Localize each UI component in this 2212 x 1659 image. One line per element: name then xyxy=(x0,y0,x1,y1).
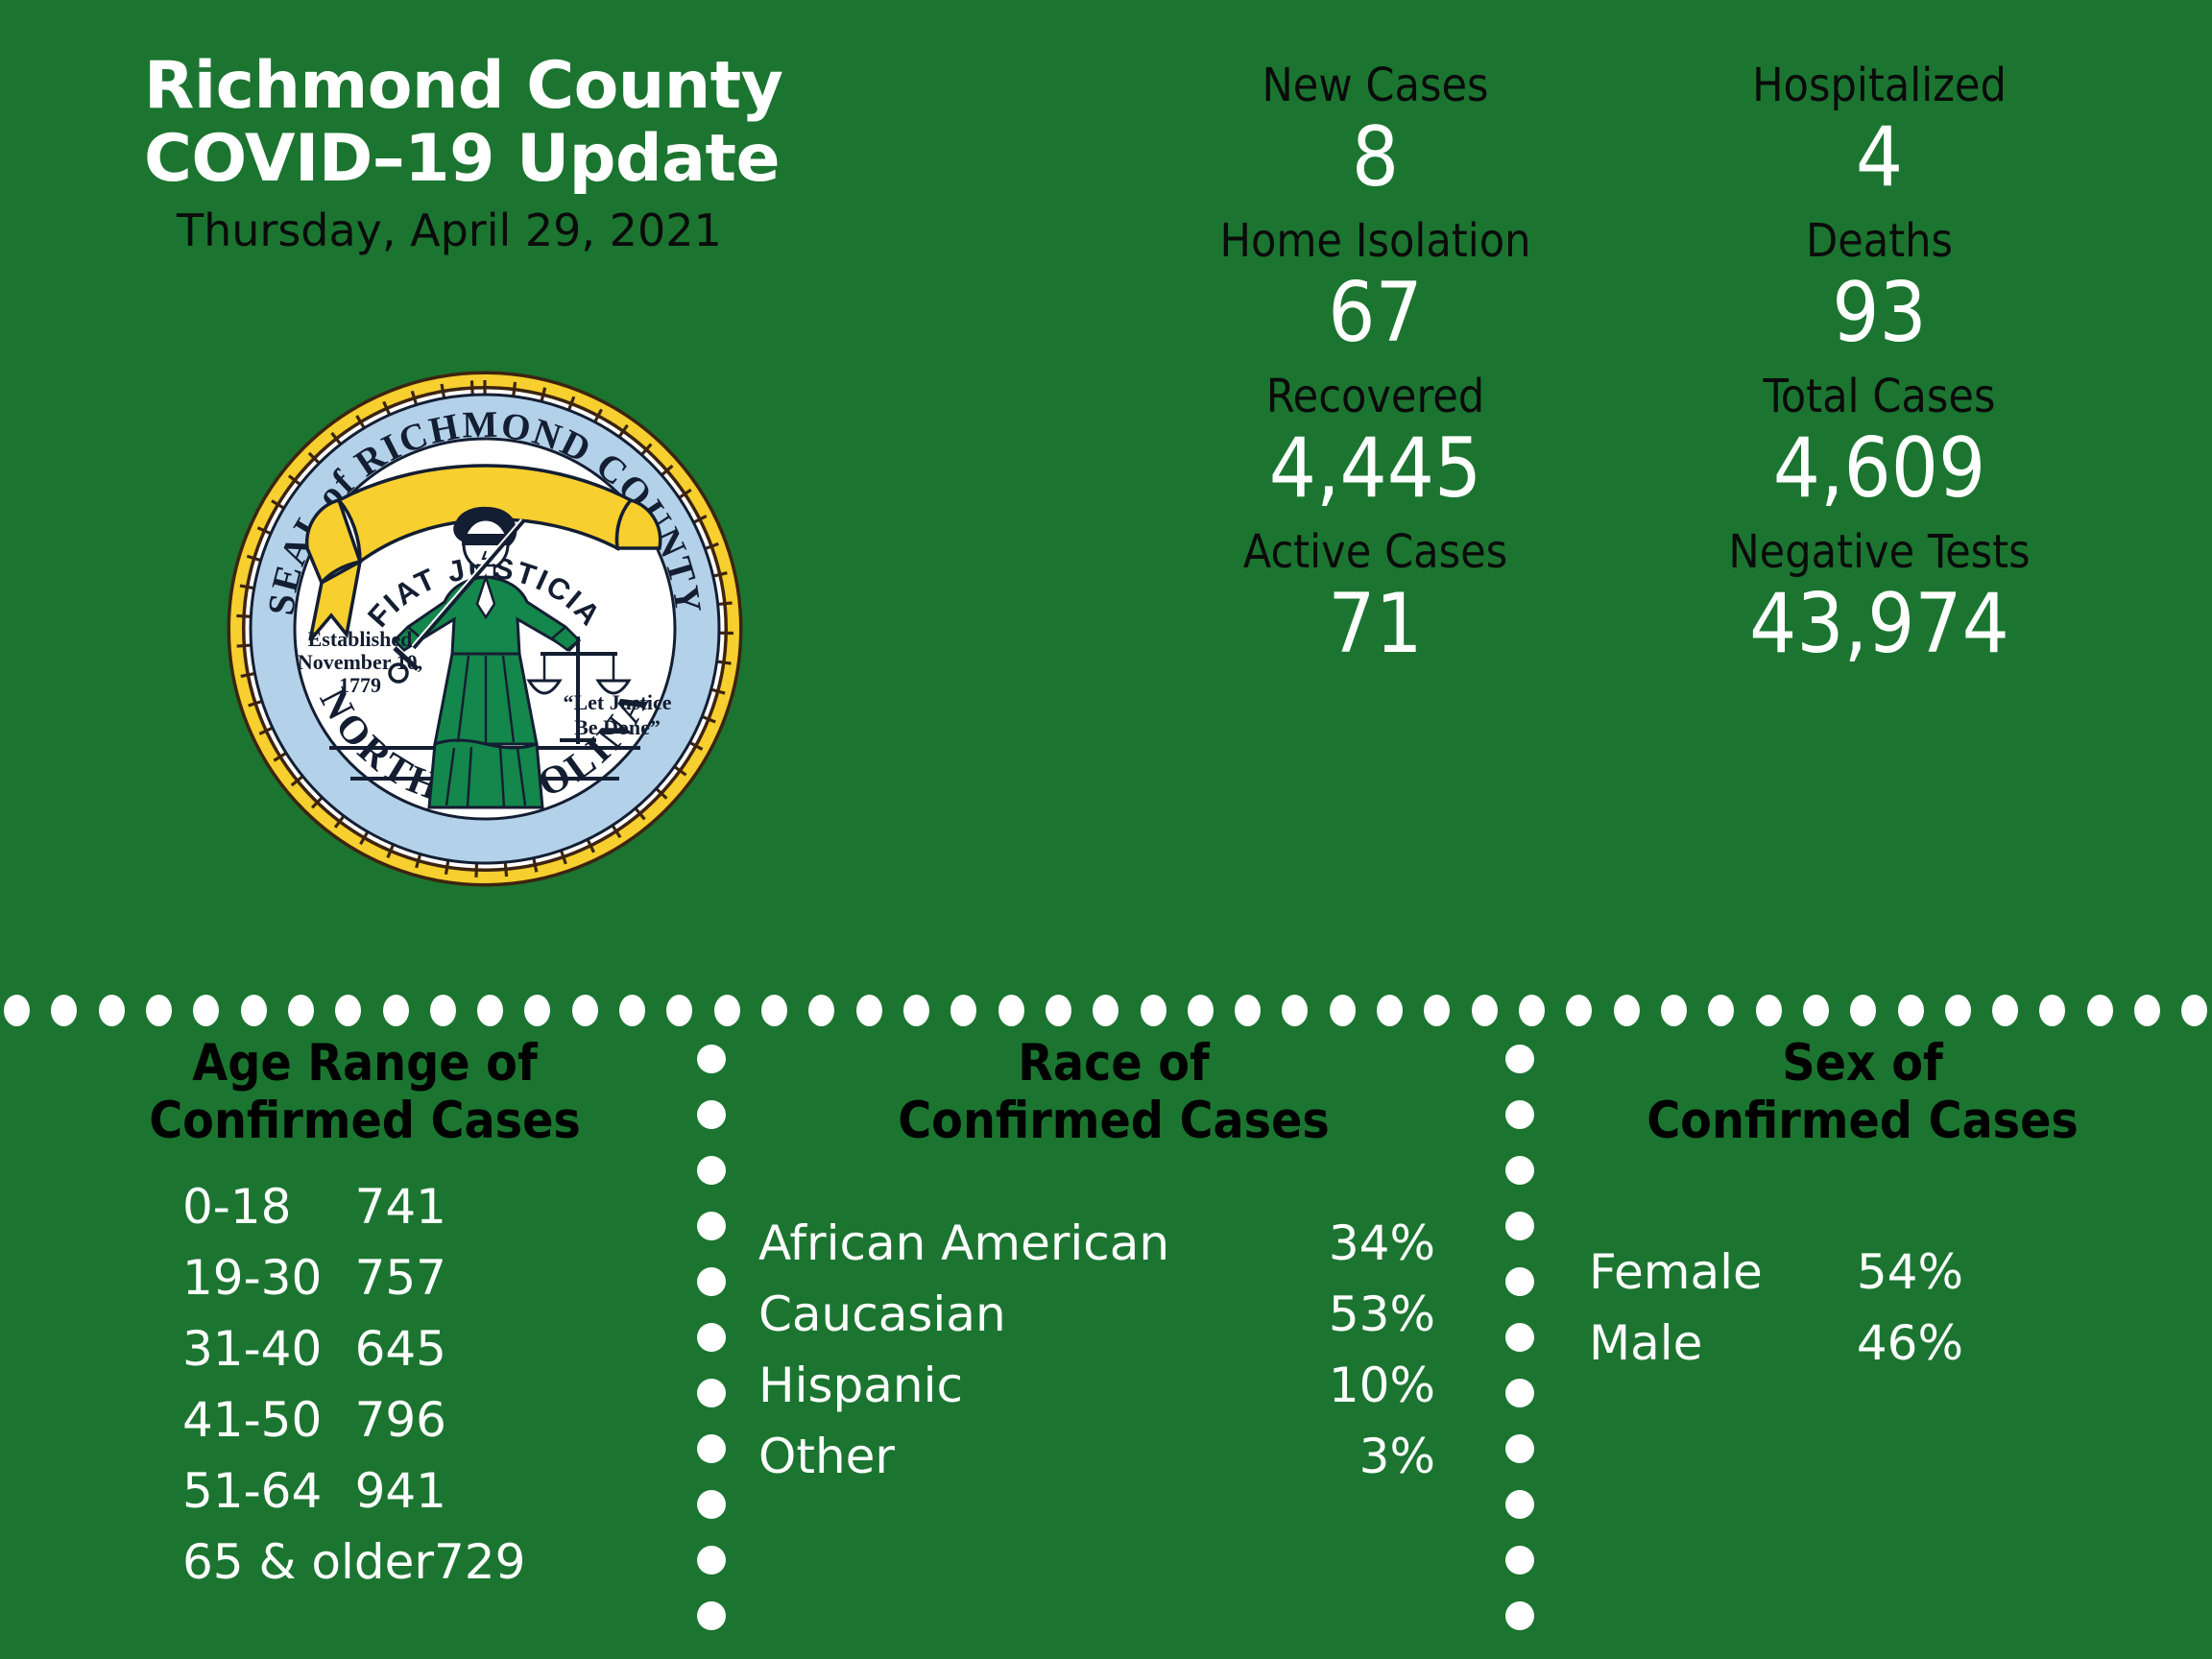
page-title-line-2: COVID–19 Update xyxy=(144,123,893,196)
row-label: 19-30 xyxy=(182,1242,322,1313)
panel-title-line-1: Age Range of xyxy=(58,1035,672,1093)
divider-dot xyxy=(714,995,740,1026)
race-rows: African American 34% Caucasian 53% Hispa… xyxy=(758,1208,1435,1492)
sex-rows: Female 54% Male 46% xyxy=(1589,1237,1963,1379)
divider-dot xyxy=(998,995,1024,1026)
divider-dot xyxy=(1756,995,1782,1026)
divider-dot xyxy=(697,1434,726,1463)
divider-dot xyxy=(477,995,503,1026)
svg-text:Established: Established xyxy=(308,627,413,651)
row-label: 31-40 xyxy=(182,1313,322,1384)
divider-dot xyxy=(1850,995,1876,1026)
divider-dot xyxy=(1472,995,1498,1026)
horizontal-dotted-divider xyxy=(0,993,2212,1027)
stat-value: 8 xyxy=(1142,113,1608,202)
list-item: Other 3% xyxy=(758,1421,1435,1492)
stat-value: 71 xyxy=(1142,580,1608,668)
panel-title-line-2: Confirmed Cases xyxy=(58,1093,672,1150)
row-value: 741 xyxy=(355,1171,446,1242)
divider-dot xyxy=(697,1045,726,1073)
stat-recovered: Recovered 4,445 xyxy=(1142,369,1608,524)
stat-value: 4,609 xyxy=(1647,424,2112,513)
divider-dot xyxy=(1505,1490,1534,1519)
stat-hospitalized: Hospitalized 4 xyxy=(1647,58,2112,213)
row-label: Hispanic xyxy=(758,1350,963,1421)
divider-dot xyxy=(99,995,125,1026)
stat-label: Active Cases xyxy=(1142,524,1608,580)
divider-dot xyxy=(1945,995,1971,1026)
panel-age-range: Age Range of Confirmed Cases 0-18 741 19… xyxy=(58,1035,672,1598)
stat-active-cases: Active Cases 71 xyxy=(1142,524,1608,680)
row-value: 796 xyxy=(355,1384,446,1455)
divider-dot xyxy=(1046,995,1071,1026)
divider-dot xyxy=(572,995,598,1026)
county-seal-icon: SEAL of RICHMOND COUNTY NORTH CAROLINA F… xyxy=(216,360,754,898)
divider-dot xyxy=(1505,1100,1534,1129)
row-value: 645 xyxy=(355,1313,446,1384)
divider-dot xyxy=(1505,1156,1534,1185)
list-item: African American 34% xyxy=(758,1208,1435,1279)
row-label: African American xyxy=(758,1208,1169,1279)
row-label: 51-64 xyxy=(182,1455,322,1527)
row-value: 53% xyxy=(1329,1279,1435,1350)
report-date: Thursday, April 29, 2021 xyxy=(177,202,893,259)
divider-dot xyxy=(288,995,314,1026)
divider-dot xyxy=(1661,995,1687,1026)
divider-dot xyxy=(1505,1045,1534,1073)
divider-dot xyxy=(430,995,456,1026)
list-item: Female 54% xyxy=(1589,1237,1963,1308)
stat-new-cases: New Cases 8 xyxy=(1142,58,1608,213)
stat-label: Hospitalized xyxy=(1647,58,2112,113)
list-item: 65 & older 729 xyxy=(182,1527,446,1598)
divider-dot xyxy=(1898,995,1924,1026)
divider-dot xyxy=(1505,1434,1534,1463)
row-value: 34% xyxy=(1329,1208,1435,1279)
svg-text:1779: 1779 xyxy=(339,673,381,697)
panel-title-line-2: Confirmed Cases xyxy=(758,1093,1469,1150)
svg-text:November 10,: November 10, xyxy=(298,650,422,674)
divider-dot xyxy=(1424,995,1450,1026)
divider-dot xyxy=(1282,995,1308,1026)
divider-dot xyxy=(2087,995,2113,1026)
divider-dot xyxy=(856,995,882,1026)
divider-dot xyxy=(335,995,361,1026)
stat-label: Total Cases xyxy=(1647,369,2112,424)
row-label: Male xyxy=(1589,1308,1702,1379)
stat-label: Home Isolation xyxy=(1142,213,1608,269)
divider-dot xyxy=(903,995,929,1026)
vertical-dotted-divider-left xyxy=(695,1045,728,1659)
row-label: 41-50 xyxy=(182,1384,322,1455)
panel-title-line-1: Sex of xyxy=(1555,1035,2170,1093)
divider-dot xyxy=(2181,995,2207,1026)
divider-dot xyxy=(1614,995,1640,1026)
divider-dot xyxy=(524,995,550,1026)
row-label: Female xyxy=(1589,1237,1763,1308)
list-item: 19-30 757 xyxy=(182,1242,446,1313)
divider-dot xyxy=(697,1546,726,1575)
county-seal: SEAL of RICHMOND COUNTY NORTH CAROLINA F… xyxy=(216,360,754,898)
panel-title-line-1: Race of xyxy=(758,1035,1469,1093)
divider-dot xyxy=(2039,995,2065,1026)
divider-dot xyxy=(808,995,834,1026)
divider-dot xyxy=(4,995,30,1026)
list-item: Caucasian 53% xyxy=(758,1279,1435,1350)
divider-dot xyxy=(1505,1267,1534,1296)
divider-dot xyxy=(1188,995,1214,1026)
row-label: Other xyxy=(758,1421,895,1492)
stat-value: 67 xyxy=(1142,269,1608,357)
row-value: 941 xyxy=(355,1455,446,1527)
divider-dot xyxy=(761,995,787,1026)
stat-label: New Cases xyxy=(1142,58,1608,113)
row-value: 757 xyxy=(355,1242,446,1313)
svg-text:Be Done”: Be Done” xyxy=(574,715,661,739)
divider-dot xyxy=(1505,1546,1534,1575)
divider-dot xyxy=(1141,995,1166,1026)
list-item: 41-50 796 xyxy=(182,1384,446,1455)
row-label: 0-18 xyxy=(182,1171,291,1242)
divider-dot xyxy=(1093,995,1118,1026)
divider-dot xyxy=(1505,1212,1534,1240)
row-label: 65 & older xyxy=(182,1527,434,1598)
page-title-line-1: Richmond County xyxy=(144,50,893,123)
divider-dot xyxy=(146,995,172,1026)
divider-dot xyxy=(1566,995,1592,1026)
list-item: 51-64 941 xyxy=(182,1455,446,1527)
divider-dot xyxy=(1992,995,2018,1026)
row-value: 729 xyxy=(434,1527,525,1598)
divider-dot xyxy=(697,1323,726,1352)
svg-text:“Let Justice: “Let Justice xyxy=(563,690,671,714)
divider-dot xyxy=(666,995,692,1026)
stat-home-isolation: Home Isolation 67 xyxy=(1142,213,1608,369)
divider-dot xyxy=(1803,995,1829,1026)
seal-motto-english: “Let Justice Be Done” xyxy=(563,690,671,739)
divider-dot xyxy=(697,1601,726,1630)
divider-dot xyxy=(697,1156,726,1185)
row-value: 54% xyxy=(1857,1237,1963,1308)
panel-title-line-2: Confirmed Cases xyxy=(1555,1093,2170,1150)
stat-value: 93 xyxy=(1647,269,2112,357)
infographic-page: Richmond County COVID–19 Update Thursday… xyxy=(0,0,2212,1659)
stat-label: Negative Tests xyxy=(1647,524,2112,580)
list-item: Male 46% xyxy=(1589,1308,1963,1379)
stat-value: 43,974 xyxy=(1647,580,2112,668)
stat-negative-tests: Negative Tests 43,974 xyxy=(1647,524,2112,680)
divider-dot xyxy=(697,1379,726,1407)
stat-value: 4,445 xyxy=(1142,424,1608,513)
stat-total-cases: Total Cases 4,609 xyxy=(1647,369,2112,524)
stat-label: Recovered xyxy=(1142,369,1608,424)
row-label: Caucasian xyxy=(758,1279,1006,1350)
divider-dot xyxy=(1505,1601,1534,1630)
divider-dot xyxy=(1519,995,1545,1026)
stat-label: Deaths xyxy=(1647,213,2112,269)
divider-dot xyxy=(1235,995,1261,1026)
divider-dot xyxy=(51,995,77,1026)
divider-dot xyxy=(1330,995,1356,1026)
list-item: Hispanic 10% xyxy=(758,1350,1435,1421)
divider-dot xyxy=(1377,995,1403,1026)
header-block: Richmond County COVID–19 Update Thursday… xyxy=(144,50,893,259)
divider-dot xyxy=(1505,1379,1534,1407)
list-item: 0-18 741 xyxy=(182,1171,446,1242)
divider-dot xyxy=(697,1267,726,1296)
divider-dot xyxy=(950,995,976,1026)
panel-race: Race of Confirmed Cases African American… xyxy=(758,1035,1469,1492)
divider-dot xyxy=(193,995,219,1026)
stats-grid: New Cases 8 Hospitalized 4 Home Isolatio… xyxy=(1142,58,2112,680)
divider-dot xyxy=(697,1490,726,1519)
divider-dot xyxy=(697,1212,726,1240)
row-value: 10% xyxy=(1329,1350,1435,1421)
divider-dot xyxy=(619,995,645,1026)
stat-value: 4 xyxy=(1647,113,2112,202)
list-item: 31-40 645 xyxy=(182,1313,446,1384)
vertical-dotted-divider-right xyxy=(1503,1045,1536,1659)
divider-dot xyxy=(2134,995,2160,1026)
divider-dot xyxy=(383,995,409,1026)
stat-deaths: Deaths 93 xyxy=(1647,213,2112,369)
divider-dot xyxy=(1708,995,1734,1026)
divider-dot xyxy=(1505,1323,1534,1352)
row-value: 46% xyxy=(1857,1308,1963,1379)
divider-dot xyxy=(697,1100,726,1129)
row-value: 3% xyxy=(1359,1421,1435,1492)
divider-dot xyxy=(241,995,267,1026)
age-rows: 0-18 741 19-30 757 31-40 645 41-50 796 5… xyxy=(182,1171,446,1598)
panel-sex: Sex of Confirmed Cases Female 54% Male 4… xyxy=(1555,1035,2170,1379)
